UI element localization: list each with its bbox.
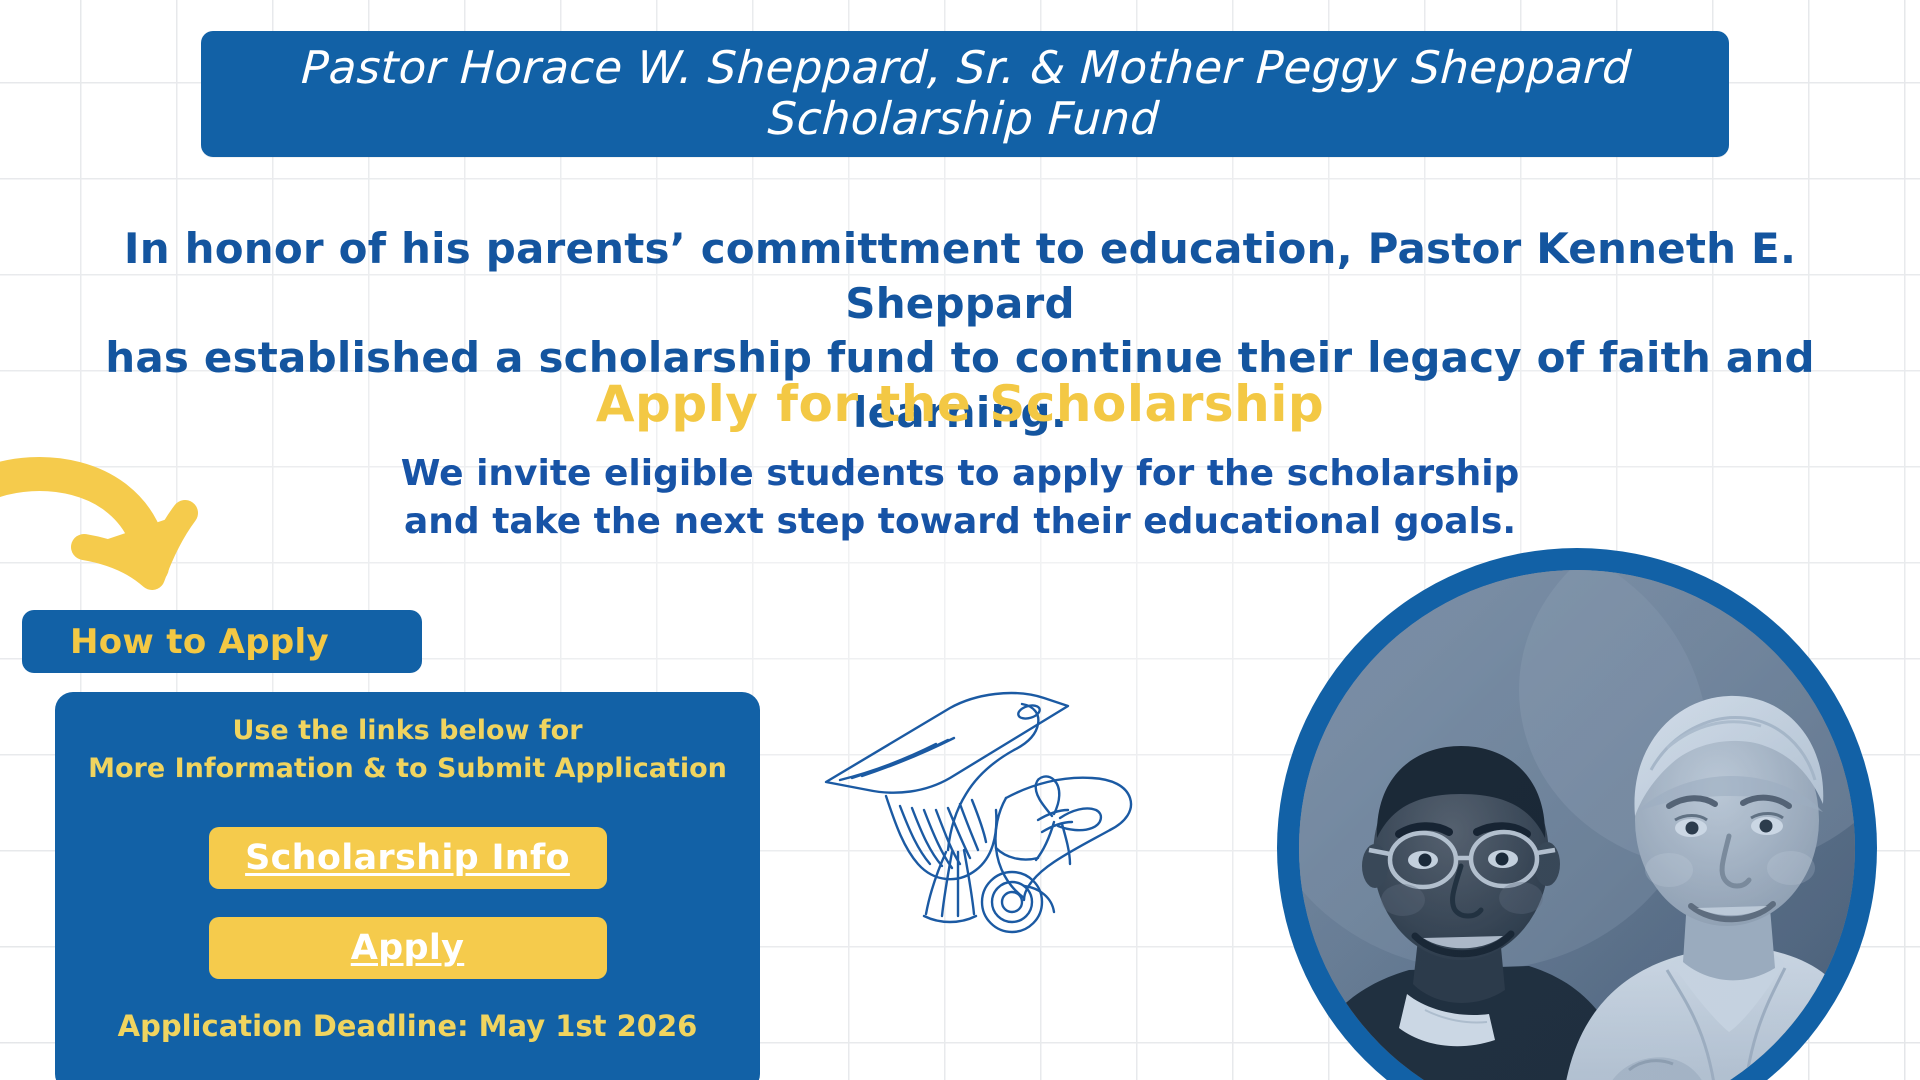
scholarship-info-button-label: Scholarship Info <box>245 838 570 878</box>
intro-line-1: In honor of his parents’ committment to … <box>60 222 1860 331</box>
apply-section-heading: Apply for the Scholarship <box>0 375 1920 433</box>
apply-button-label: Apply <box>351 928 465 968</box>
card-instruction-line-1: Use the links below for <box>88 712 727 750</box>
apply-info-card: Use the links below for More Information… <box>55 692 760 1080</box>
how-to-apply-pill: How to Apply <box>22 610 422 673</box>
apply-subtext-line-1: We invite eligible students to apply for… <box>0 450 1920 498</box>
page-title: Pastor Horace W. Sheppard, Sr. & Mother … <box>271 43 1658 145</box>
card-instruction-line-2: More Information & to Submit Application <box>88 750 727 788</box>
sheppard-couple-portrait <box>1299 570 1855 1080</box>
curved-arrow-icon <box>0 455 240 600</box>
header-banner: Pastor Horace W. Sheppard, Sr. & Mother … <box>201 31 1729 157</box>
page-title-line-2: Scholarship Fund <box>767 92 1161 145</box>
portrait-frame <box>1277 548 1877 1080</box>
apply-section-subtext: We invite eligible students to apply for… <box>0 450 1920 546</box>
application-deadline-text: Application Deadline: May 1st 2026 <box>55 1009 760 1043</box>
card-instructions: Use the links below for More Information… <box>88 712 727 789</box>
apply-subtext-line-2: and take the next step toward their educ… <box>0 498 1920 546</box>
graduation-cap-and-diploma-illustration <box>800 650 1200 1050</box>
how-to-apply-label: How to Apply <box>22 622 329 662</box>
scholarship-info-button[interactable]: Scholarship Info <box>209 827 607 889</box>
page-title-line-1: Pastor Horace W. Sheppard, Sr. & Mother … <box>300 41 1633 94</box>
apply-button[interactable]: Apply <box>209 917 607 979</box>
